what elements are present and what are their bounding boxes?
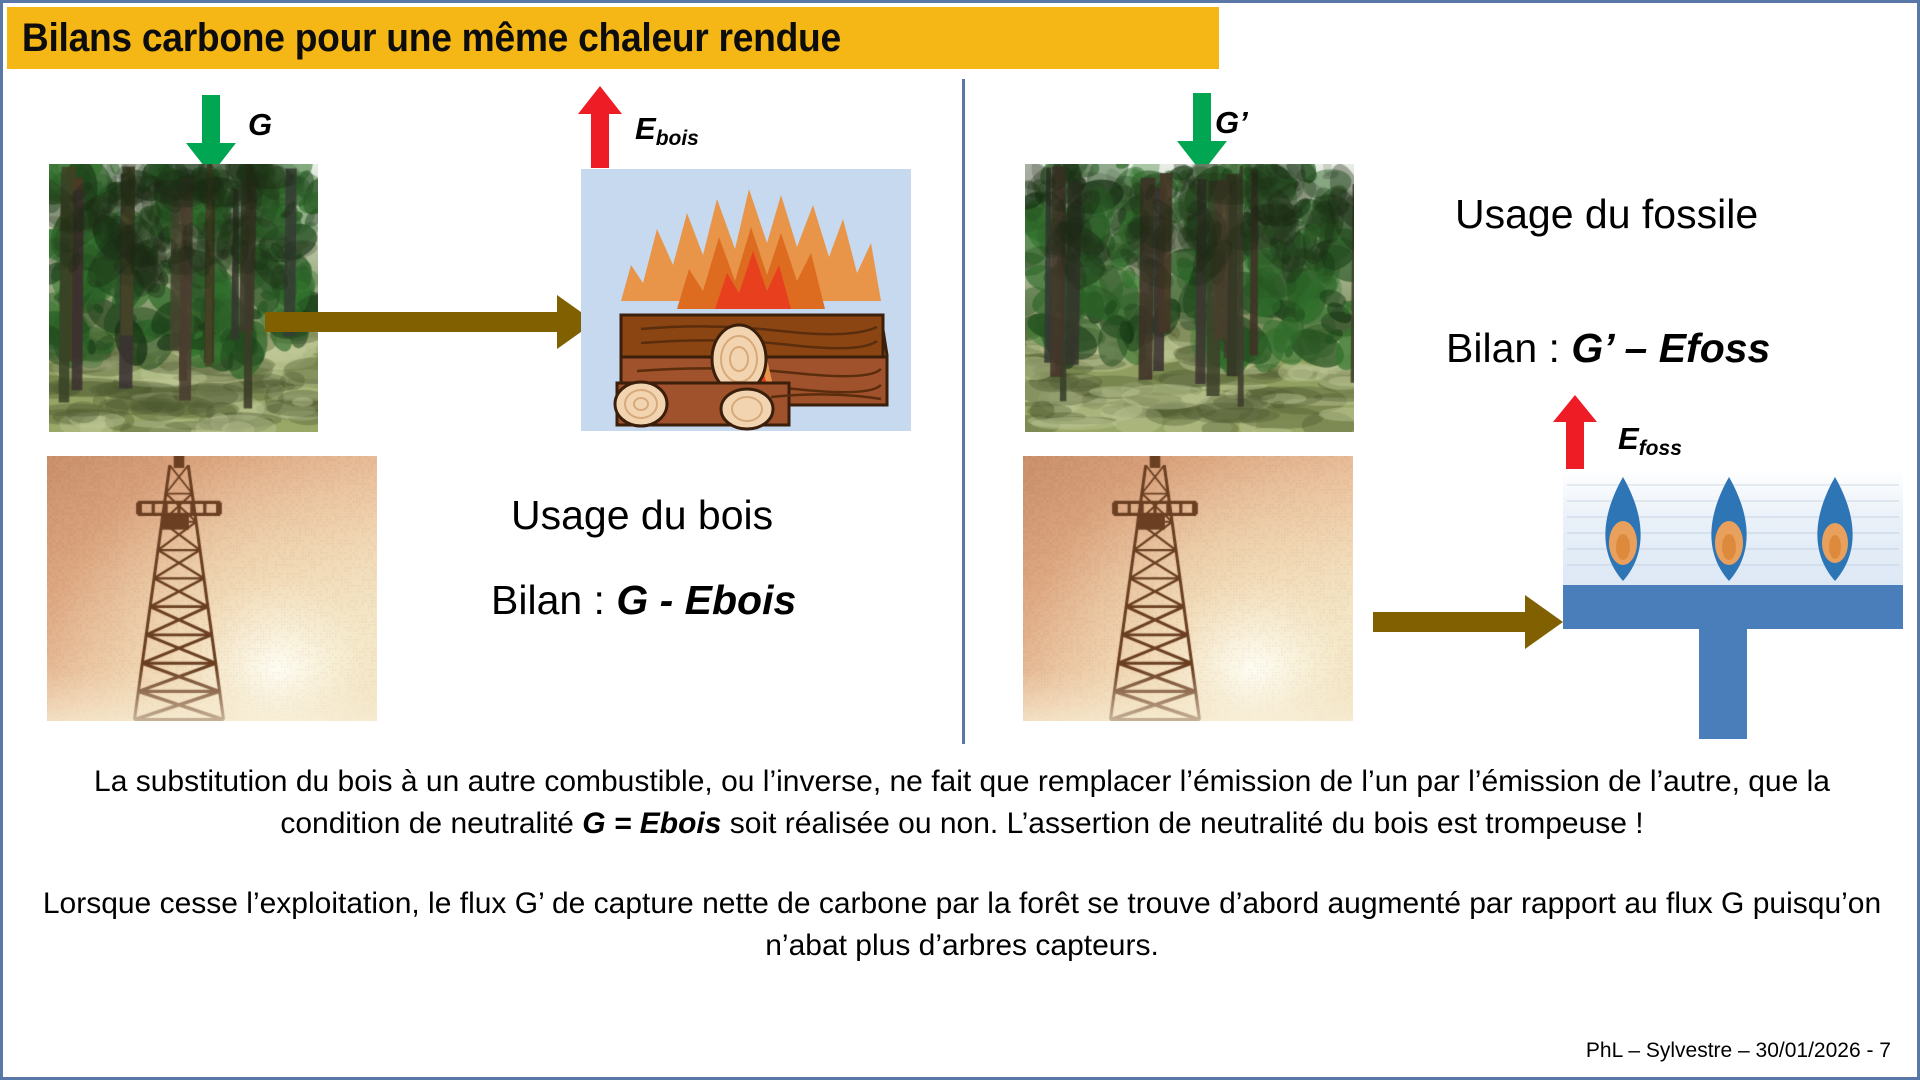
slide-footer: PhL – Sylvestre – 30/01/2026 - 7 xyxy=(1586,1039,1891,1063)
emission-arrow-right-label: Efoss xyxy=(1618,421,1682,457)
gas-burner-illustration xyxy=(1563,469,1903,739)
body-text-block: La substitution du bois à un autre combu… xyxy=(33,761,1891,967)
panel-divider xyxy=(962,79,965,744)
forest-photo-right xyxy=(1025,164,1354,432)
left-panel-heading: Usage du bois xyxy=(511,492,773,539)
right-panel-heading: Usage du fossile xyxy=(1455,191,1758,238)
body-paragraph-1: La substitution du bois à un autre combu… xyxy=(33,761,1891,845)
paragraph-spacer xyxy=(33,845,1891,883)
body-p1-formula: G = Ebois xyxy=(582,807,721,840)
process-arrow-left-icon xyxy=(265,293,595,351)
emission-arrow-left-icon xyxy=(576,86,624,168)
left-balance-prefix: Bilan : xyxy=(491,577,616,623)
left-balance-formula: G - Ebois xyxy=(616,577,796,623)
right-balance-formula: G’ – Efoss xyxy=(1571,325,1770,371)
process-arrow-right-icon xyxy=(1373,593,1563,651)
emission-arrow-right-icon xyxy=(1551,395,1599,475)
page-title: Bilans carbone pour une même chaleur ren… xyxy=(7,16,841,61)
slide-canvas: Bilans carbone pour une même chaleur ren… xyxy=(0,0,1920,1080)
emission-arrow-left-label: Ebois xyxy=(635,111,699,147)
left-panel-balance: Bilan : G - Ebois xyxy=(491,577,796,624)
uptake-arrow-right-label: G’ xyxy=(1215,105,1248,141)
wood-fire-illustration xyxy=(581,169,911,431)
emission-left-base: E xyxy=(635,111,656,146)
emission-right-sub: foss xyxy=(1639,437,1682,460)
body-p1-part2: soit réalisée ou non. L’assertion de neu… xyxy=(721,807,1643,840)
slide-title-bar: Bilans carbone pour une même chaleur ren… xyxy=(7,7,1219,69)
oil-derrick-photo-left xyxy=(47,456,377,721)
right-panel-balance: Bilan : G’ – Efoss xyxy=(1446,325,1770,372)
emission-left-sub: bois xyxy=(656,127,699,150)
emission-right-base: E xyxy=(1618,421,1639,456)
right-balance-prefix: Bilan : xyxy=(1446,325,1571,371)
oil-derrick-photo-right xyxy=(1023,456,1353,721)
body-paragraph-2: Lorsque cesse l’exploitation, le flux G’… xyxy=(33,883,1891,967)
uptake-arrow-left-label: G xyxy=(248,107,272,143)
